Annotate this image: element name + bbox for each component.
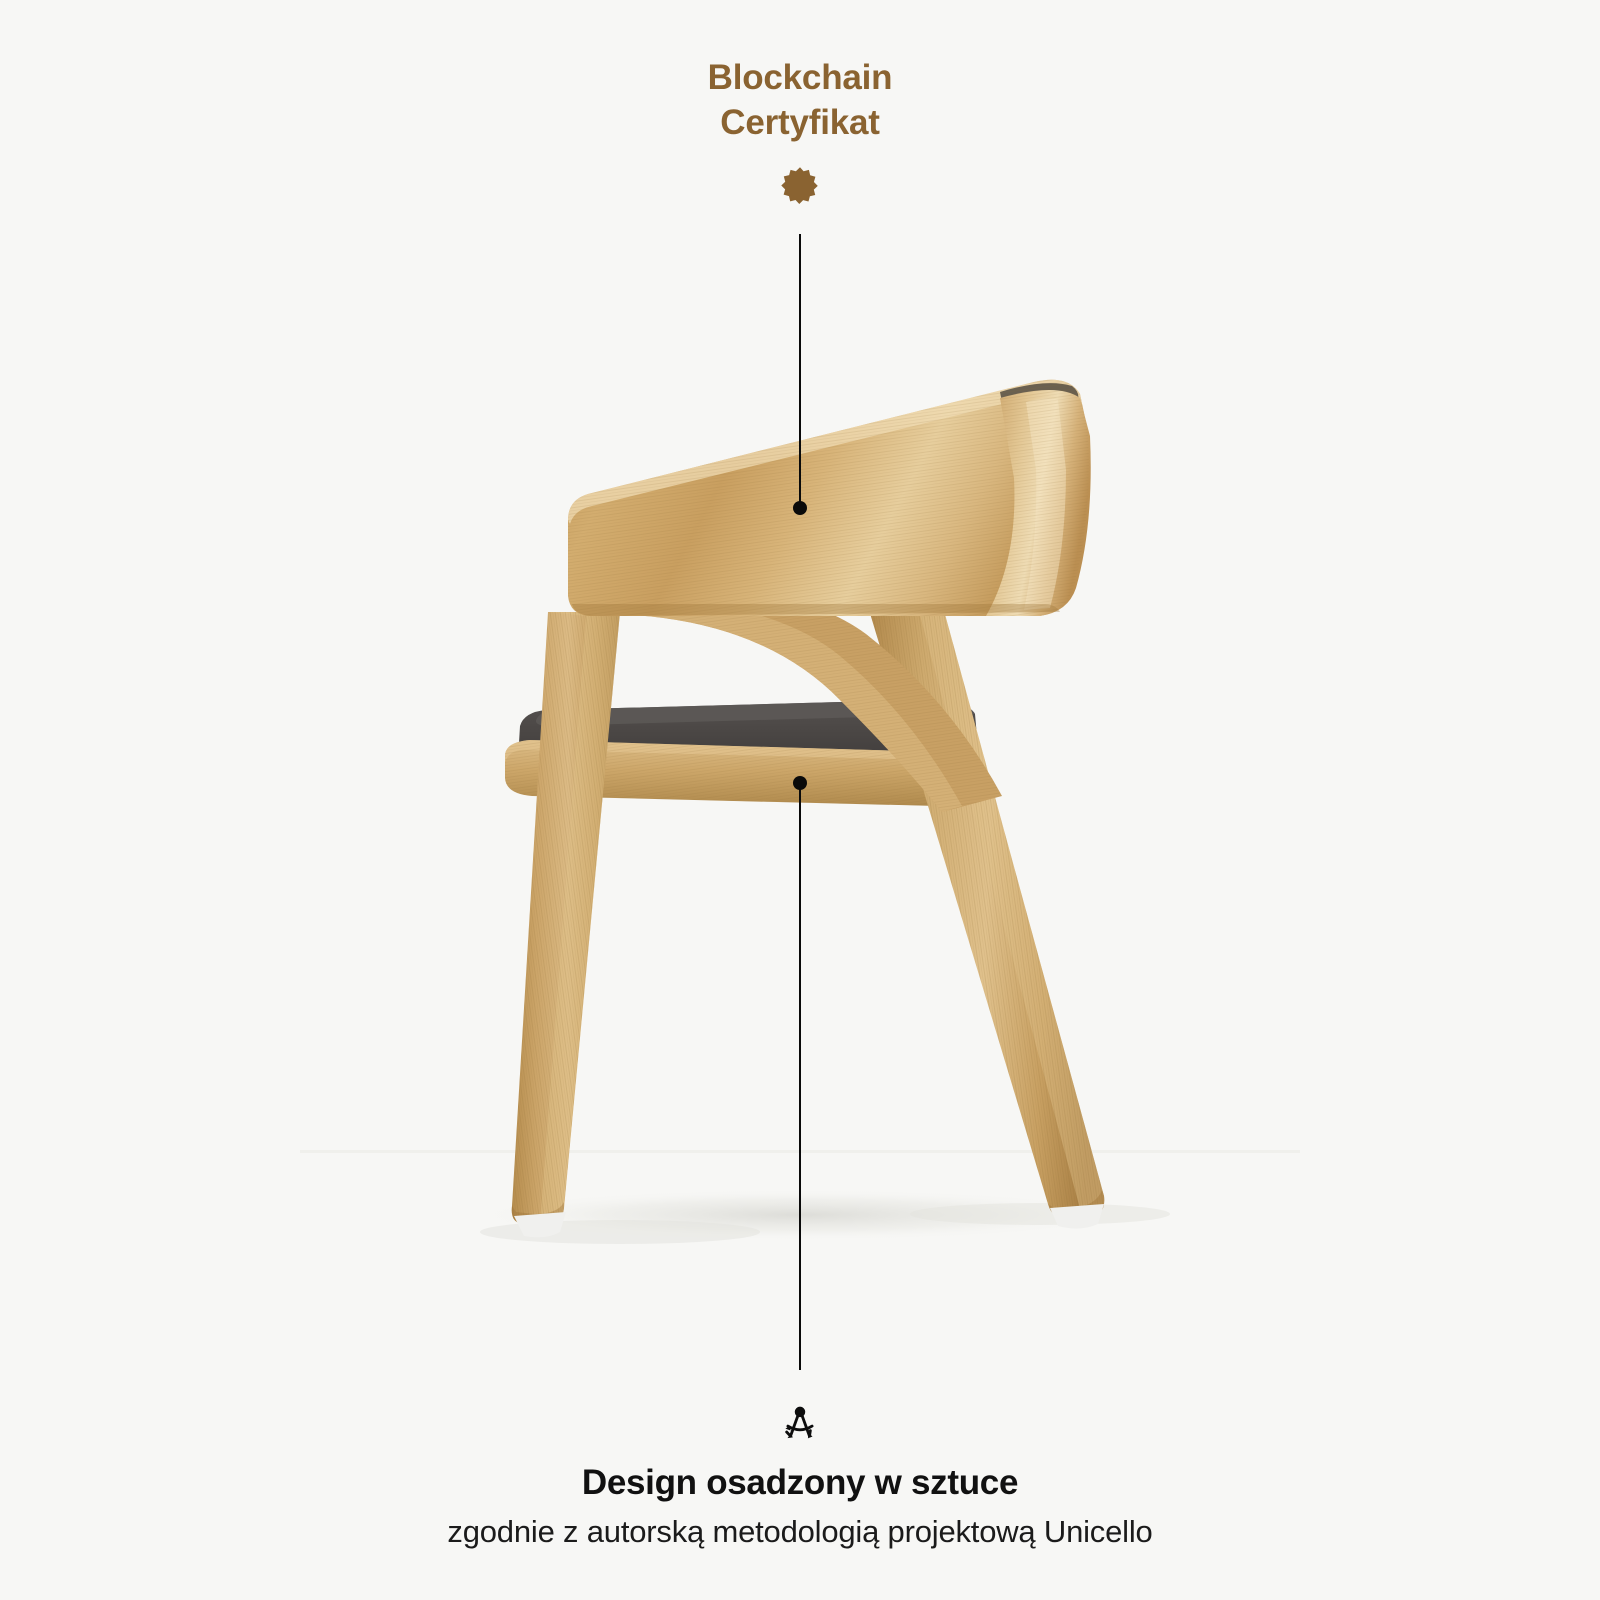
top-annotation-title: Blockchain Certyfikat: [708, 56, 893, 146]
leader-line-bottom: [799, 783, 801, 1370]
bottom-annotation-block: Design osadzony w sztuce zgodnie z autor…: [0, 1404, 1600, 1550]
front-leg: [512, 612, 620, 1224]
drafting-compass-icon: [780, 1404, 820, 1444]
leader-line-top: [799, 234, 801, 508]
leader-dot-seat-rail: [793, 776, 807, 790]
certificate-seal-icon: [779, 165, 821, 207]
bottom-annotation-subtitle: zgodnie z autorską metodologią projektow…: [447, 1513, 1152, 1550]
top-annotation-block: Blockchain Certyfikat: [0, 56, 1600, 207]
top-annotation-title-line1: Blockchain: [708, 56, 893, 101]
product-annotation-canvas: Blockchain Certyfikat: [0, 0, 1600, 1600]
bottom-annotation-title: Design osadzony w sztuce: [582, 1462, 1018, 1504]
leader-dot-backrest: [793, 501, 807, 515]
backrest-shell: [568, 380, 1091, 616]
top-annotation-title-line2: Certyfikat: [708, 101, 893, 146]
